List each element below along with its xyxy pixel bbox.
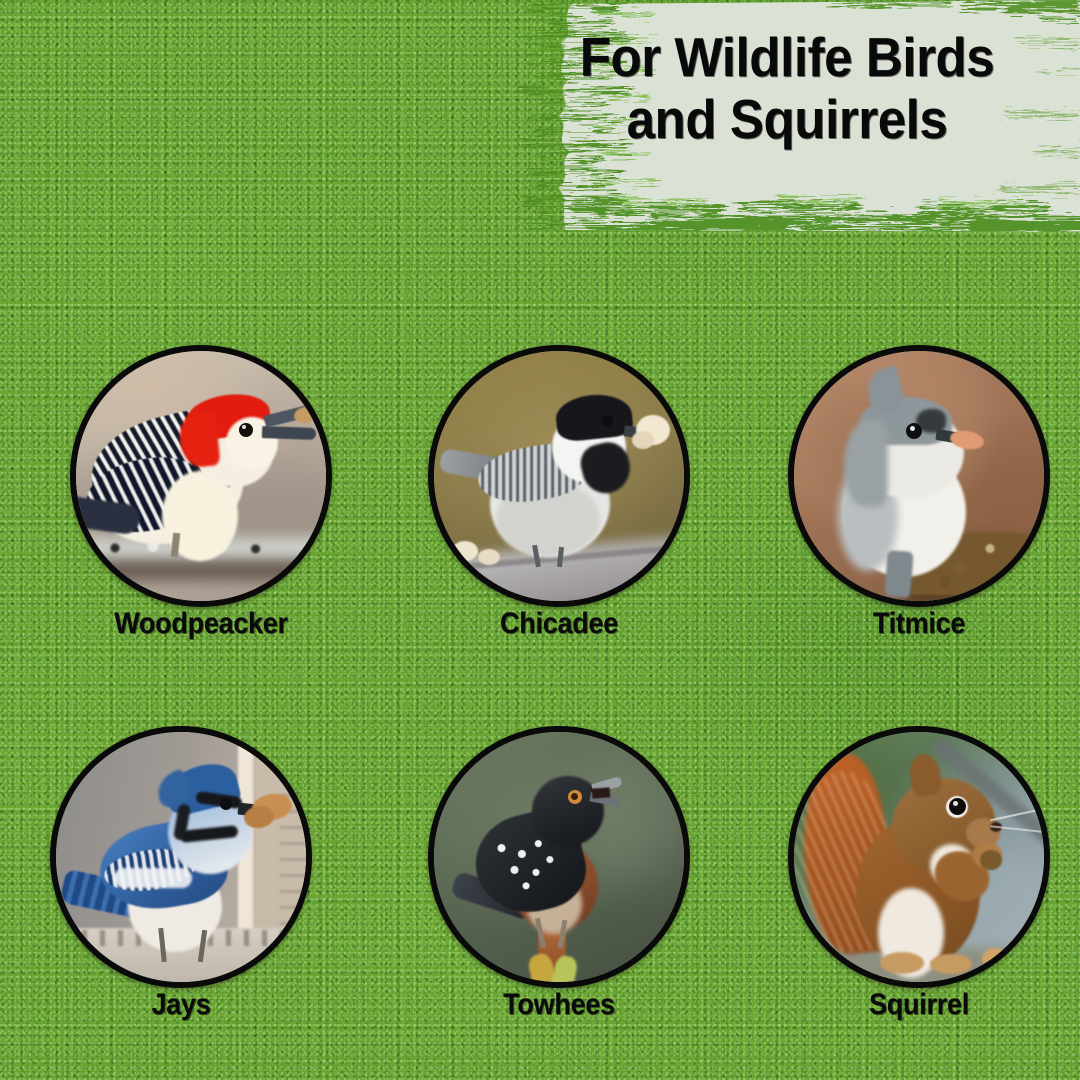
gallery-item-titmouse[interactable]: Titmice (788, 345, 1050, 655)
jay-photo-circle[interactable] (50, 726, 312, 988)
banner-heading-line-1: For Wildlife Birds (580, 26, 995, 88)
titmouse-photo (794, 351, 1044, 601)
chickadee-label: Chicadee (441, 607, 677, 641)
banner-heading: For Wildlife Birds and Squirrels (520, 26, 1054, 150)
header-banner: For Wildlife Birds and Squirrels (500, 0, 1080, 232)
poster-canvas: For Wildlife Birds and Squirrels (0, 0, 1080, 1080)
banner-heading-line-2: and Squirrels (520, 88, 1054, 150)
towhee-label: Towhees (441, 988, 677, 1022)
jay-label: Jays (63, 988, 299, 1022)
gallery-item-jay[interactable]: Jays (50, 726, 312, 1036)
woodpecker-label: Woodpeacker (83, 607, 319, 641)
gallery-item-squirrel[interactable]: Squirrel (788, 726, 1050, 1036)
towhee-photo-circle[interactable] (428, 726, 690, 988)
gallery-item-woodpecker[interactable]: Woodpeacker (70, 345, 332, 655)
chickadee-photo-circle[interactable] (428, 345, 690, 607)
squirrel-photo (794, 732, 1044, 982)
chickadee-photo (434, 351, 684, 601)
titmouse-label: Titmice (801, 607, 1037, 641)
gallery-item-chickadee[interactable]: Chicadee (428, 345, 690, 655)
squirrel-photo-circle[interactable] (788, 726, 1050, 988)
titmouse-photo-circle[interactable] (788, 345, 1050, 607)
towhee-photo (434, 732, 684, 982)
woodpecker-photo-circle[interactable] (70, 345, 332, 607)
squirrel-label: Squirrel (801, 988, 1037, 1022)
jay-photo (56, 732, 306, 982)
gallery-item-towhee[interactable]: Towhees (428, 726, 690, 1036)
woodpecker-photo (76, 351, 326, 601)
